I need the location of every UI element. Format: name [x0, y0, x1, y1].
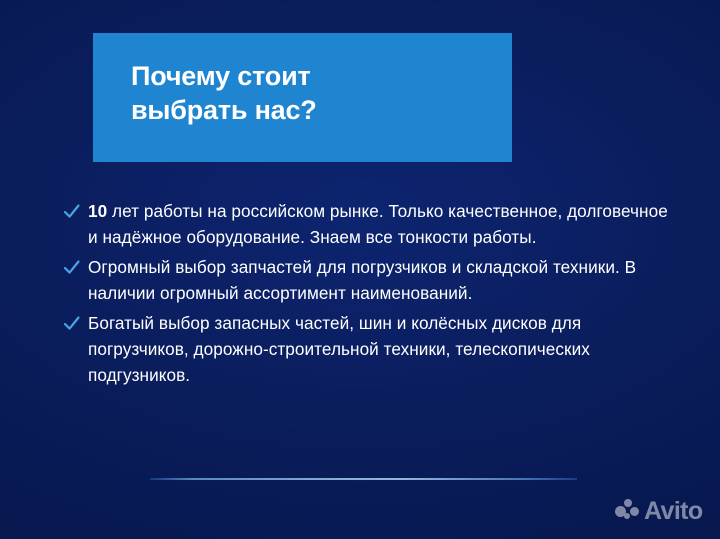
check-icon — [62, 311, 82, 337]
avito-watermark: Avito — [615, 498, 703, 524]
list-item-body: Огромный выбор запчастей для погрузчиков… — [88, 257, 636, 303]
page-title: Почему стоит выбрать нас? — [131, 59, 491, 127]
check-icon — [62, 199, 82, 225]
list-item: Богатый выбор запасных частей, шин и кол… — [62, 310, 672, 389]
list-item-body: лет работы на российском рынке. Только к… — [88, 201, 668, 247]
list-item: Огромный выбор запчастей для погрузчиков… — [62, 254, 672, 307]
avito-wordmark: Avito — [644, 498, 703, 524]
divider — [150, 478, 577, 480]
slide-canvas: Почему стоит выбрать нас? 10 лет работы … — [0, 0, 720, 539]
check-icon — [62, 255, 82, 281]
avito-dots-logo-icon — [615, 498, 643, 524]
list-item-lead: 10 — [88, 201, 107, 221]
list-item: 10 лет работы на российском рынке. Тольк… — [62, 198, 672, 251]
list-item-body: Богатый выбор запасных частей, шин и кол… — [88, 313, 590, 386]
list-item-text: 10 лет работы на российском рынке. Тольк… — [82, 198, 672, 251]
list-item-text: Огромный выбор запчастей для погрузчиков… — [82, 254, 672, 307]
list-item-text: Богатый выбор запасных частей, шин и кол… — [82, 310, 672, 389]
benefits-list: 10 лет работы на российском рынке. Тольк… — [62, 198, 672, 392]
title-banner: Почему стоит выбрать нас? — [93, 33, 512, 162]
